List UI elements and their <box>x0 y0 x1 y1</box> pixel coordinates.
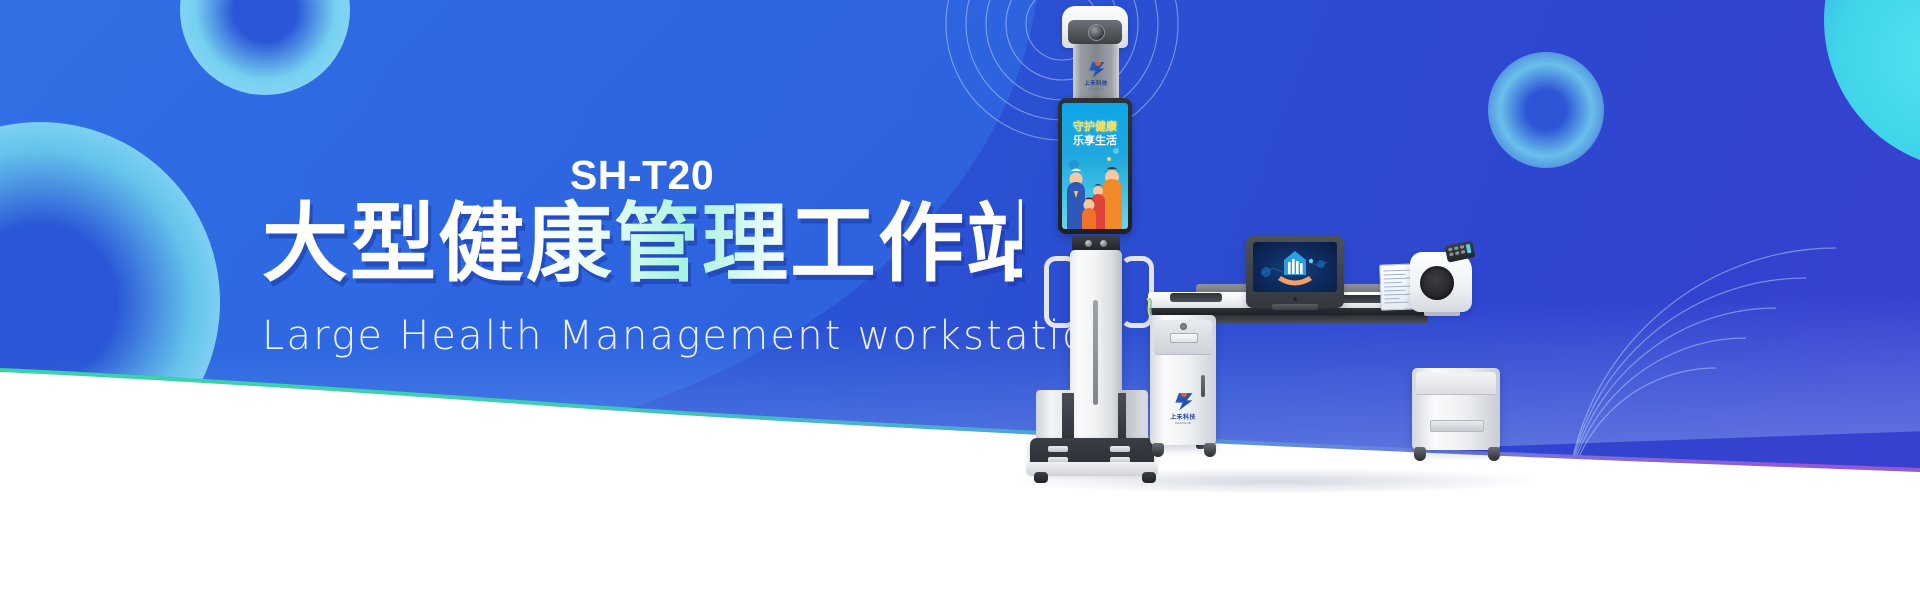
camera-lens-icon <box>1088 24 1105 41</box>
desk-apron <box>1196 315 1428 324</box>
sensor-left-icon <box>1085 240 1092 247</box>
printer-output-tray <box>1430 420 1484 432</box>
lock-icon <box>1180 323 1187 330</box>
cabinet-brand-name-en: SHANGHE <box>1156 421 1210 425</box>
scale-foot <box>1142 472 1156 483</box>
product-hero-banner: SH-T20 大型健康管理工作站 Large Health Management… <box>0 0 1920 600</box>
kiosk-sensor-bar <box>1072 236 1120 251</box>
scale-pad <box>1110 446 1130 452</box>
kiosk-slogan-line2: 乐享生活 <box>1062 132 1128 148</box>
caster-wheel <box>1204 443 1216 457</box>
kiosk-brand-name-cn: 上禾科技 <box>1082 79 1110 87</box>
monitor-screen[interactable] <box>1253 242 1337 292</box>
cabinet-brand-logo: 上禾科技 SHANGHE <box>1156 392 1210 425</box>
kiosk-brand-logo: 上禾科技 SHANGHE <box>1082 61 1110 95</box>
scale-pad <box>1048 446 1068 452</box>
kiosk-display[interactable]: 守护健康 乐享生活 <box>1062 103 1128 229</box>
kiosk-brand-name-en: SHANGHE <box>1082 87 1110 91</box>
shanghe-logo-icon <box>1088 61 1105 78</box>
family-illustration-icon <box>1062 157 1128 229</box>
caster-wheel <box>1488 447 1500 461</box>
monitor-indicator <box>1293 297 1297 301</box>
banner-background <box>0 0 1920 600</box>
sensor-right-icon <box>1100 240 1107 247</box>
caster-wheel <box>1414 447 1426 461</box>
decorative-radial-arcs-right <box>1556 188 1920 528</box>
card-slot <box>1170 333 1198 343</box>
decorative-glow-circle-top-right <box>1824 0 1920 170</box>
bp-cuff-opening <box>1420 266 1454 300</box>
scale-foot <box>1034 472 1048 483</box>
desk-cable <box>1145 298 1155 316</box>
monitor-stand <box>1272 304 1318 310</box>
desk-tray <box>1170 293 1222 302</box>
shanghe-logo-icon <box>1174 392 1193 411</box>
cabinet-brand-name-cn: 上禾科技 <box>1156 412 1210 421</box>
caster-wheel <box>1152 443 1164 457</box>
printer-lid <box>1416 372 1496 395</box>
kiosk-body-slot <box>1093 300 1098 405</box>
decorative-glow-ring-mid-right <box>1488 52 1604 168</box>
city-skyline-silhouette <box>0 410 1920 600</box>
